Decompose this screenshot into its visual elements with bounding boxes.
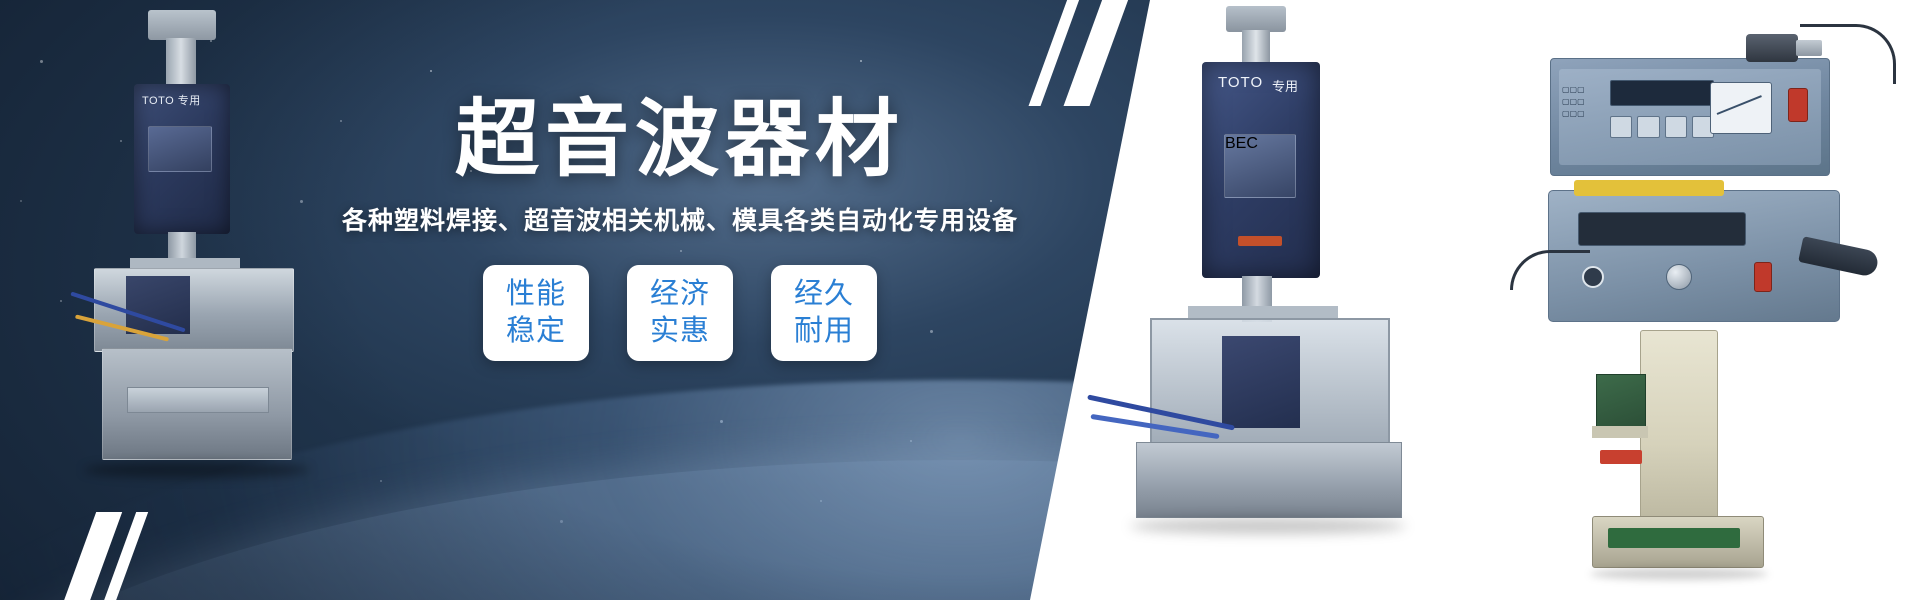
feature-badge[interactable]: 经久 耐用 xyxy=(771,265,877,361)
left-machine-brand-suffix: 专用 xyxy=(178,95,201,107)
left-machine-brand: TOTO xyxy=(142,95,174,107)
product-photo-zone: TOTO 专用 BEC ▢▢▢▢▢▢▢▢▢ xyxy=(1190,0,1920,600)
right-machine-panel-label: BEC xyxy=(1224,134,1296,198)
feature-badge[interactable]: 经济 实惠 xyxy=(627,265,733,361)
banner-text-block: 超音波器材 各种塑料焊接、超音波相关机械、模具各类自动化专用设备 性能 稳定 经… xyxy=(330,96,1030,361)
feature-badge-list: 性能 稳定 经济 实惠 经久 耐用 xyxy=(330,265,1030,361)
bench-press-photo xyxy=(1582,330,1778,580)
banner-subtitle: 各种塑料焊接、超音波相关机械、模具各类自动化专用设备 xyxy=(330,201,1030,237)
welding-unit-photo xyxy=(1548,190,1840,322)
promo-banner: TOTO 专用 超音波器材 各种塑料焊接、超音波相关机械、模具各类自动化专用设备… xyxy=(0,0,1920,600)
feature-badge-line1: 性能 xyxy=(506,276,566,313)
right-machine-brand-suffix: 专用 xyxy=(1272,76,1298,95)
feature-badge-line2: 实惠 xyxy=(650,313,710,350)
page-title: 超音波器材 xyxy=(330,96,1030,183)
left-machine-photo: TOTO 专用 xyxy=(60,10,330,470)
feature-badge-line2: 耐用 xyxy=(794,313,854,350)
ultrasonic-generator-photo: ▢▢▢▢▢▢▢▢▢ xyxy=(1550,58,1830,176)
feature-badge[interactable]: 性能 稳定 xyxy=(483,265,589,361)
feature-badge-line1: 经久 xyxy=(794,276,854,313)
feature-badge-line1: 经济 xyxy=(650,276,710,313)
right-machine-brand: TOTO xyxy=(1218,74,1263,91)
feature-badge-line2: 稳定 xyxy=(506,313,566,350)
right-welder-photo: TOTO 专用 BEC xyxy=(1130,6,1430,566)
